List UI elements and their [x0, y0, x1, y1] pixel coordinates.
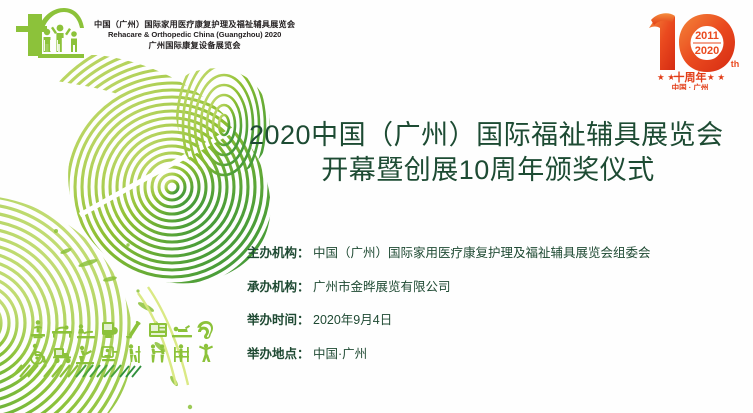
- standing-frame-icon: [170, 342, 194, 366]
- hearing-aid-icon: [194, 318, 218, 342]
- tenth-anniversary-icon: 2011 2020 th ★ ★ 十周年 ★ ★ 中国 · 广州: [635, 4, 745, 90]
- detail-label-location: 举办地点：: [247, 347, 310, 361]
- pictogram-icon-grid: [26, 318, 218, 366]
- crutch-walking-icon: [122, 318, 146, 342]
- anniversary-location: 中国 · 广州: [672, 82, 709, 90]
- person-walker-icon: [122, 342, 146, 366]
- detail-row-organiser: 主办机构： 中国（广州）国际家用医疗康复护理及福祉辅具展览会组委会: [247, 247, 747, 260]
- detail-value-co-organiser: 广州市金晔展览有限公司: [313, 280, 451, 294]
- logo-chinese-title-bottom: 广州国际康复设备展览会: [149, 40, 241, 51]
- detail-value-location: 中国·广州: [313, 347, 367, 361]
- shower-chair-icon: [98, 342, 122, 366]
- logo-chinese-title-top: 中国（广州）国际家用医疗康复护理及福祉辅具展览会: [94, 19, 295, 30]
- person-assisted-walking-icon: [146, 342, 170, 366]
- anniversary-year-from: 2011: [695, 30, 719, 42]
- person-lying-therapy-icon: [170, 318, 194, 342]
- person-exercising-icon: [74, 342, 98, 366]
- detail-value-organiser: 中国（广州）国际家用医疗康复护理及福祉辅具展览会组委会: [313, 246, 651, 260]
- person-stretching-icon: [194, 342, 218, 366]
- organiser-logo: 中国（广州）国际家用医疗康复护理及福祉辅具展览会 Rehacare & Orth…: [14, 6, 295, 64]
- hand-device-icon: [98, 318, 122, 342]
- person-kneeling-therapy-icon: [74, 318, 98, 342]
- exhibition-banner: 中国（广州）国际家用医疗康复护理及福祉辅具展览会 Rehacare & Orth…: [0, 0, 753, 413]
- logo-english-title: Rehacare & Orthopedic China (Guangzhou) …: [108, 30, 281, 40]
- event-details: 主办机构： 中国（广州）国际家用医疗康复护理及福祉辅具展览会组委会 承办机构： …: [247, 247, 747, 381]
- anniversary-text: 十周年: [674, 70, 707, 84]
- detail-value-date: 2020年9月4日: [313, 313, 392, 327]
- anniversary-year-to: 2020: [695, 45, 719, 57]
- detail-label-organiser: 主办机构：: [247, 246, 310, 260]
- massage-bed-icon: [50, 318, 74, 342]
- detail-label-co-organiser: 承办机构：: [247, 280, 310, 294]
- wheelchair-user-icon: [26, 342, 50, 366]
- detail-row-location: 举办地点： 中国·广州: [247, 348, 747, 361]
- cross-house-family-icon: [14, 6, 86, 64]
- hospital-bed-icon: [146, 318, 170, 342]
- detail-row-co-organiser: 承办机构： 广州市金晔展览有限公司: [247, 281, 747, 294]
- main-title: 2020中国（广州）国际福祉辅具展览会 开幕暨创展10周年颁奖仪式: [247, 118, 729, 187]
- title-line-1: 2020中国（广州）国际福祉辅具展览会: [249, 118, 729, 153]
- tenth-anniversary-logo: 2011 2020 th ★ ★ 十周年 ★ ★ 中国 · 广州: [635, 4, 745, 90]
- anniversary-stars-right: ★ ★: [707, 73, 725, 83]
- detail-label-date: 举办时间：: [247, 313, 310, 327]
- title-line-2: 开幕暨创展10周年颁奖仪式: [247, 153, 729, 188]
- detail-row-date: 举办时间： 2020年9月4日: [247, 314, 747, 327]
- person-on-scale-icon: [26, 318, 50, 342]
- anniversary-ordinal: th: [731, 59, 740, 69]
- mobility-scooter-icon: [50, 342, 74, 366]
